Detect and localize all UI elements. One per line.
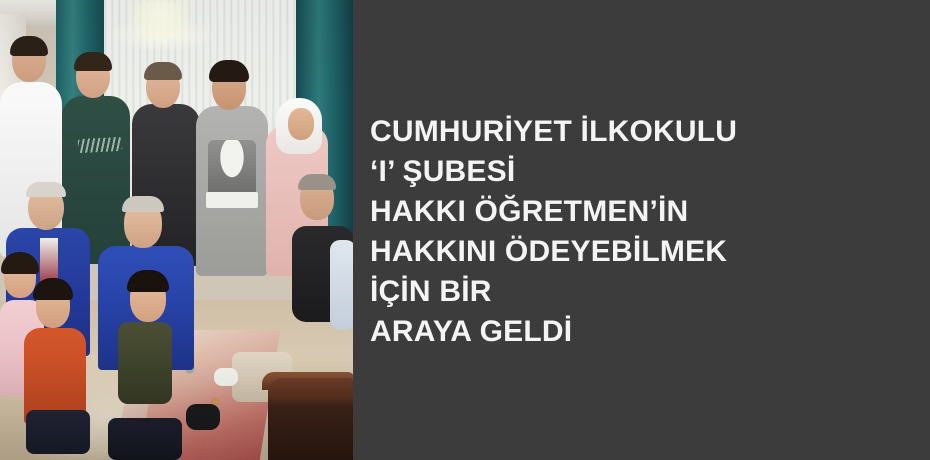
headline-line-1: CUMHURİYET İLKOKULU (370, 112, 918, 152)
headline-line-6: ARAYA GELDİ (370, 312, 918, 352)
headline-line-3: HAKKI ÖĞRETMEN’İN (370, 192, 918, 232)
headline-block: CUMHURİYET İLKOKULU ‘I’ ŞUBESİ HAKKI ÖĞR… (370, 112, 918, 352)
news-card: CUMHURİYET İLKOKULU ‘I’ ŞUBESİ HAKKI ÖĞR… (0, 0, 930, 460)
headline-line-2: ‘I’ ŞUBESİ (370, 152, 918, 192)
photo-vignette (0, 0, 353, 460)
headline-line-5: İÇİN BİR (370, 272, 918, 312)
headline-line-4: HAKKINI ÖDEYEBİLMEK (370, 232, 918, 272)
article-photo (0, 0, 353, 460)
headline-panel: CUMHURİYET İLKOKULU ‘I’ ŞUBESİ HAKKI ÖĞR… (353, 0, 930, 460)
